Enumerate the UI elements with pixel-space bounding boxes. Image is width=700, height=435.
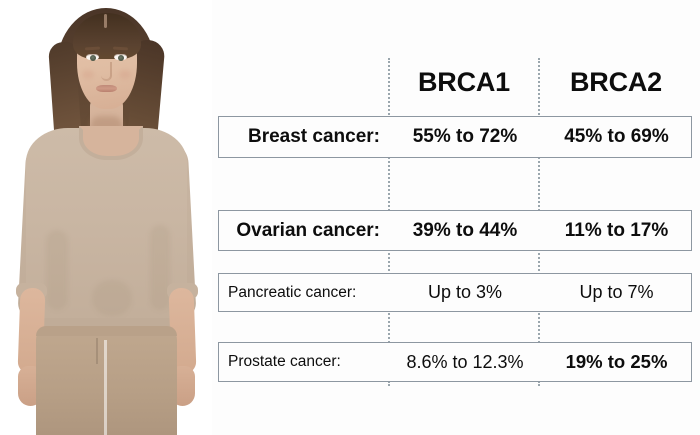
cell-prostate-brca2: 19% to 25% xyxy=(540,343,693,381)
infographic-root: BRCA1 BRCA2 Breast cancer: 55% to 72% 45… xyxy=(0,0,700,435)
cell-pancreatic-brca2: Up to 7% xyxy=(540,274,693,311)
table-row: Ovarian cancer: 39% to 44% 11% to 17% xyxy=(218,210,692,251)
cell-breast-brca2: 45% to 69% xyxy=(540,117,693,157)
row-label-breast-cancer: Breast cancer: xyxy=(219,117,389,157)
row-label-prostate-cancer: Prostate cancer: xyxy=(219,343,389,381)
row-label-ovarian-cancer: Ovarian cancer: xyxy=(219,211,389,250)
cell-ovarian-brca1: 39% to 44% xyxy=(390,211,540,250)
column-header-brca1: BRCA1 xyxy=(390,64,538,100)
table-row: Breast cancer: 55% to 72% 45% to 69% xyxy=(218,116,692,158)
brca-risk-table: BRCA1 BRCA2 Breast cancer: 55% to 72% 45… xyxy=(0,0,700,435)
cell-ovarian-brca2: 11% to 17% xyxy=(540,211,693,250)
column-header-brca2: BRCA2 xyxy=(540,64,692,100)
cell-pancreatic-brca1: Up to 3% xyxy=(390,274,540,311)
row-label-pancreatic-cancer: Pancreatic cancer: xyxy=(219,274,389,311)
table-row: Prostate cancer: 8.6% to 12.3% 19% to 25… xyxy=(218,342,692,382)
table-row: Pancreatic cancer: Up to 3% Up to 7% xyxy=(218,273,692,312)
cell-breast-brca1: 55% to 72% xyxy=(390,117,540,157)
cell-prostate-brca1: 8.6% to 12.3% xyxy=(390,343,540,381)
